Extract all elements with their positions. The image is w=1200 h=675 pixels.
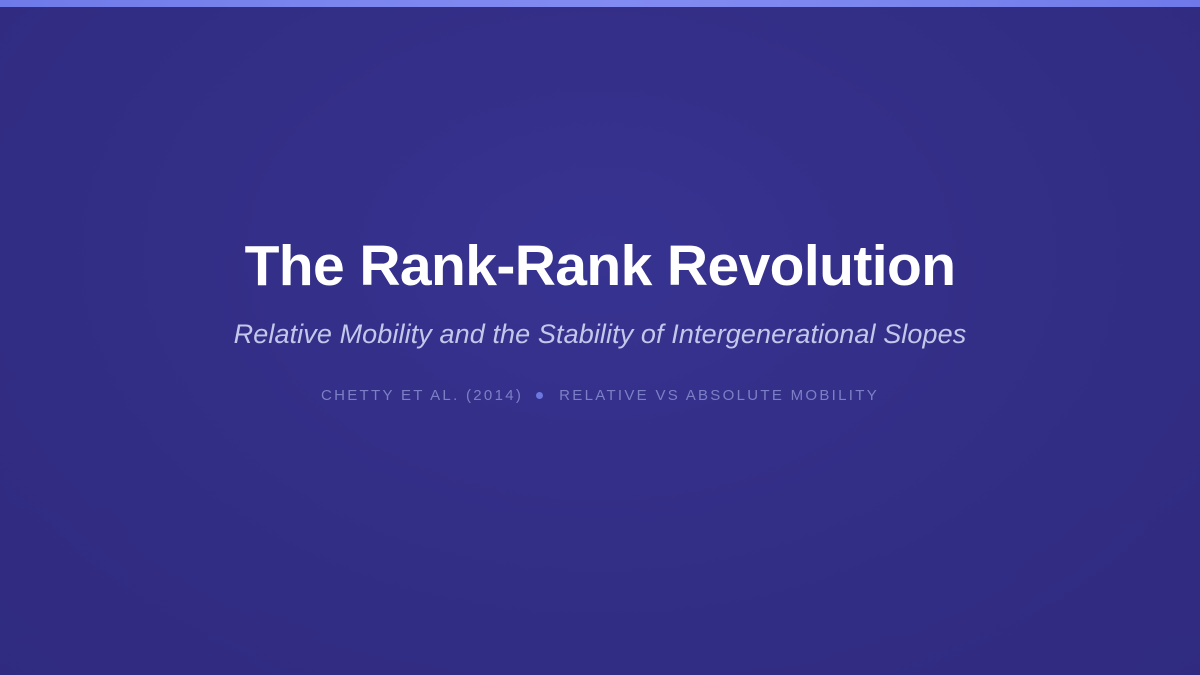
kicker-topic: RELATIVE VS ABSOLUTE MOBILITY xyxy=(559,387,879,404)
slide-subtitle: Relative Mobility and the Stability of I… xyxy=(234,318,967,352)
kicker-source: CHETTY ET AL. (2014) xyxy=(321,387,523,404)
slide-title: The Rank-Rank Revolution xyxy=(245,236,956,298)
title-block: The Rank-Rank Revolution Relative Mobili… xyxy=(0,0,1200,675)
bullet-dot-icon xyxy=(536,392,543,399)
title-slide: The Rank-Rank Revolution Relative Mobili… xyxy=(0,0,1200,675)
slide-kicker: CHETTY ET AL. (2014) RELATIVE VS ABSOLUT… xyxy=(321,387,879,404)
